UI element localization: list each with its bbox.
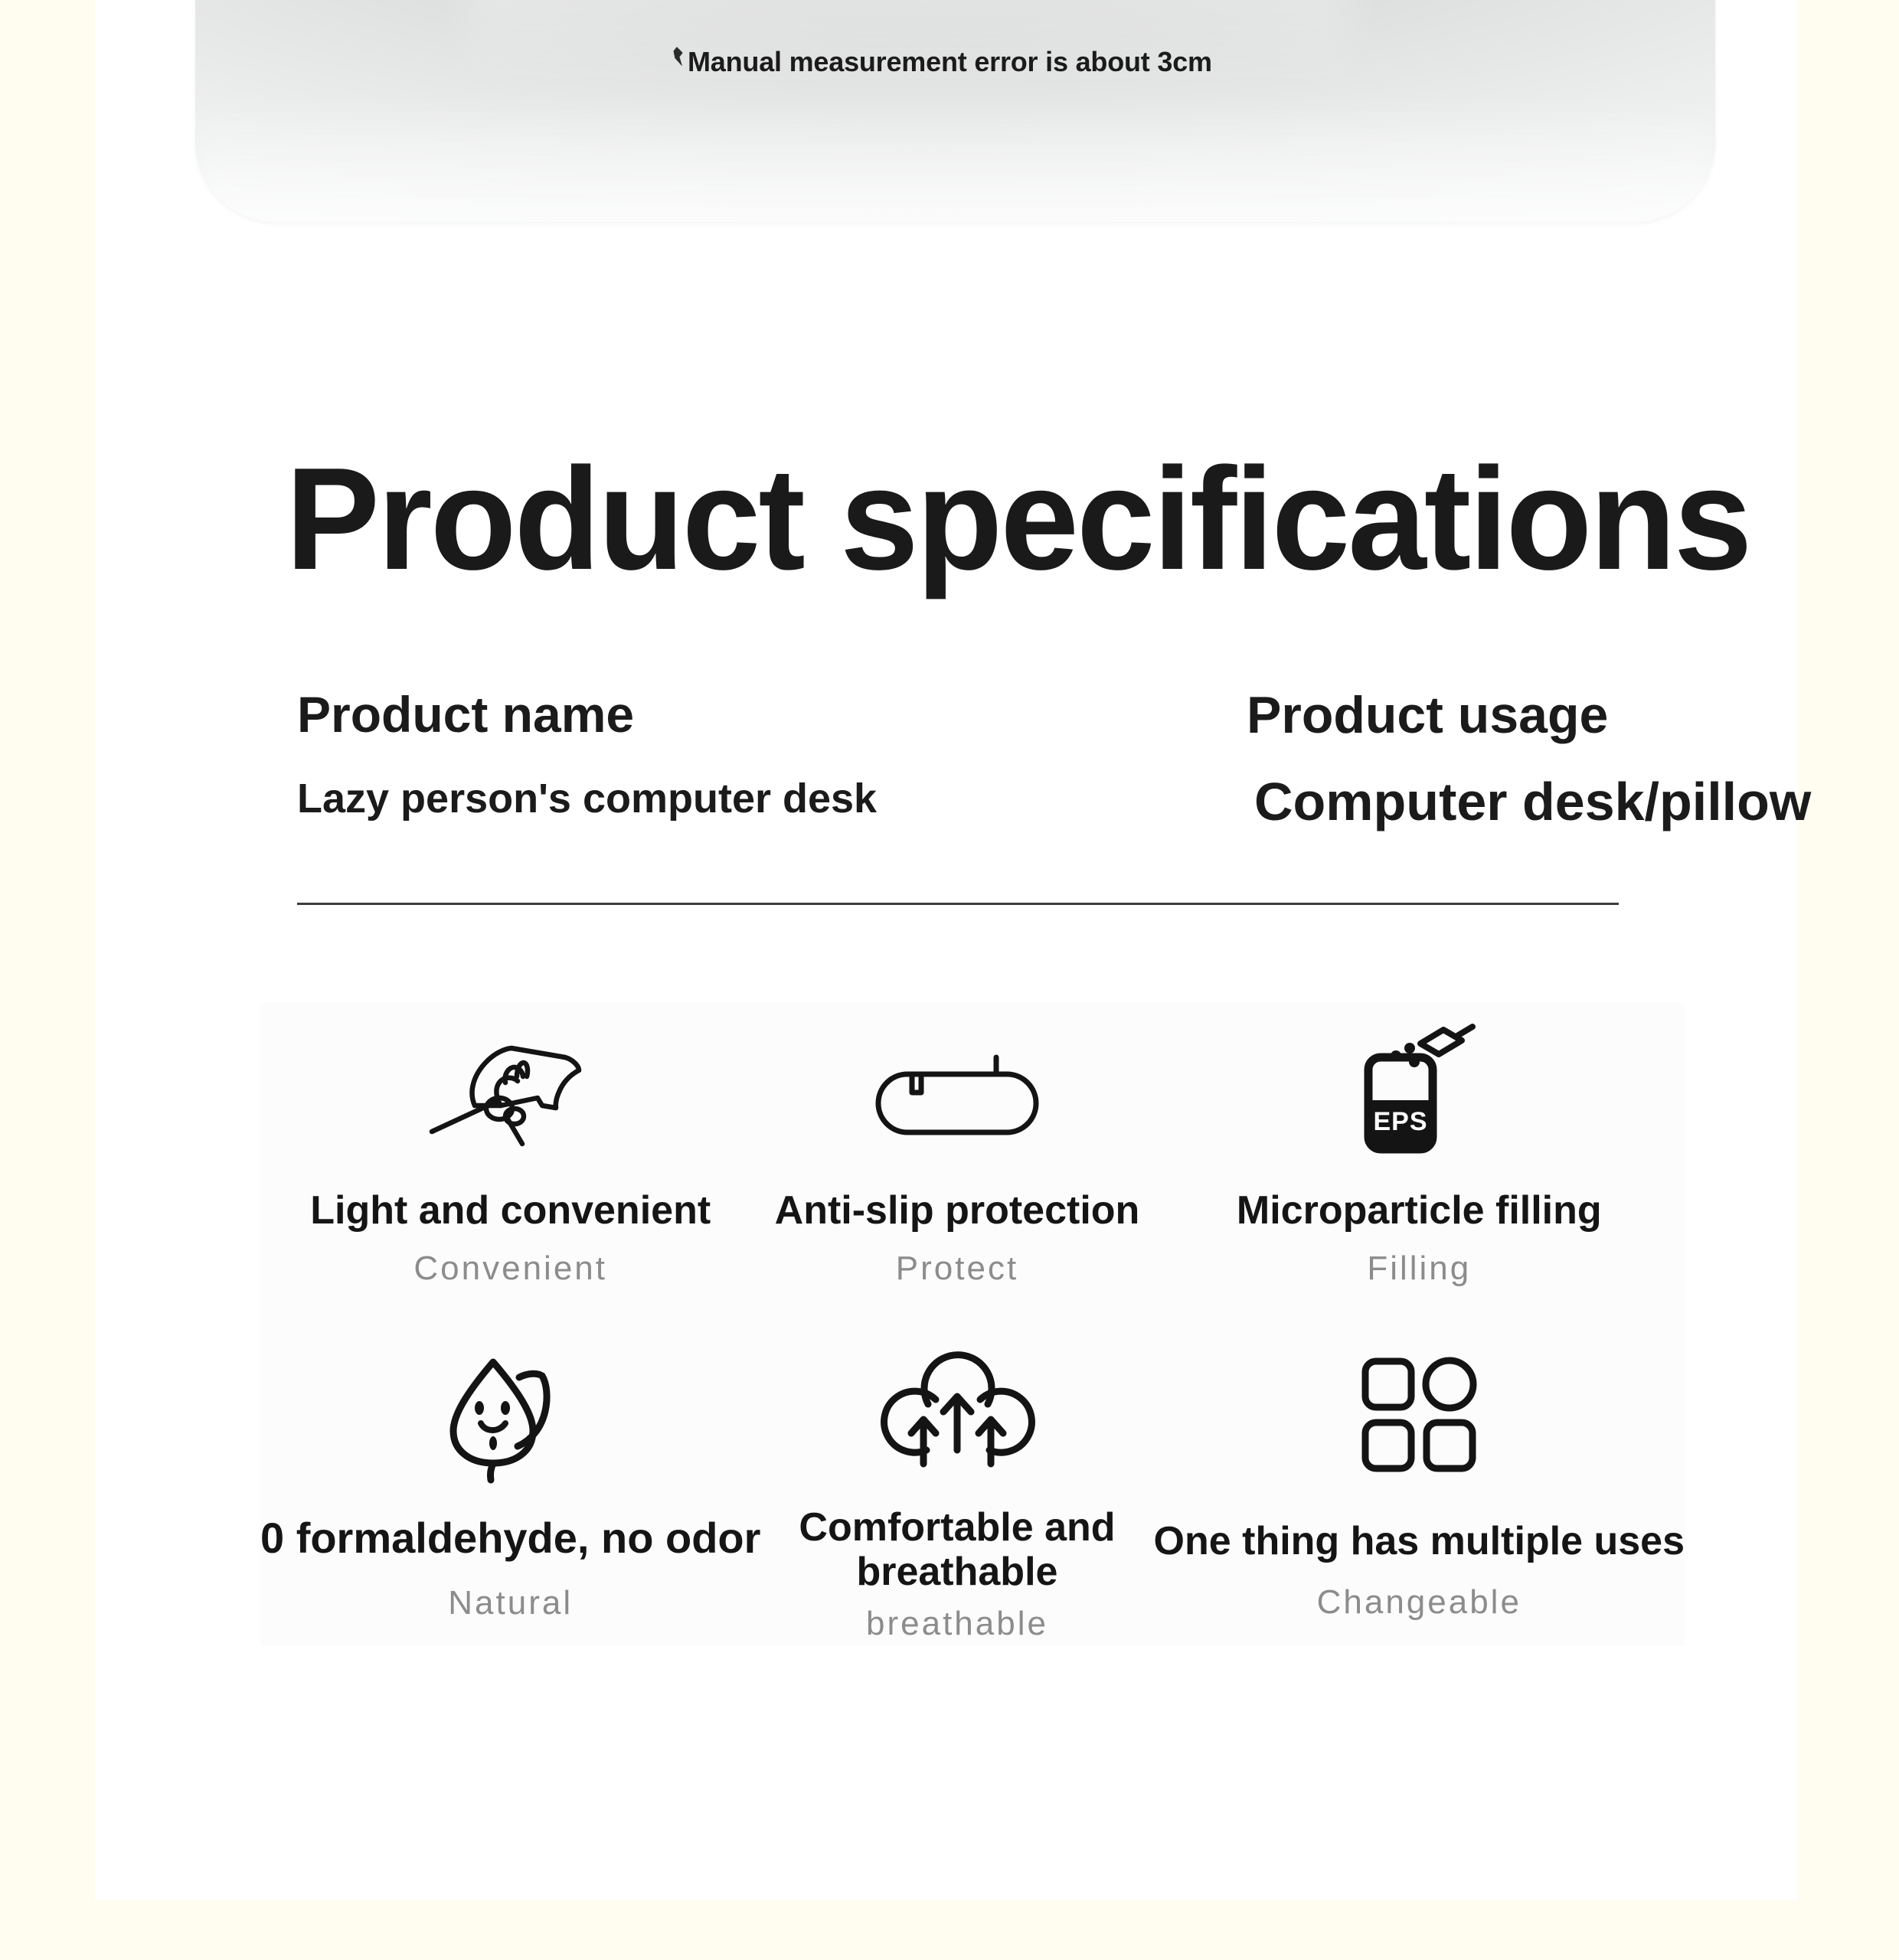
feature-item-breathable: Comfortable and breathable breathable xyxy=(760,1325,1153,1646)
grid-shapes-icon xyxy=(1358,1338,1480,1491)
dark-speck-icon xyxy=(673,47,684,67)
feature-title: Anti-slip protection xyxy=(775,1188,1140,1233)
feature-title: Microparticle filling xyxy=(1237,1188,1602,1233)
air-circulation-icon xyxy=(881,1338,1034,1491)
spec-divider xyxy=(297,903,1619,905)
spec-product-name: Product name Lazy person's computer desk xyxy=(297,689,971,819)
spec-value: Computer desk/pillow xyxy=(1254,775,1899,828)
product-photo xyxy=(195,0,1715,222)
specifications-block: Product name Lazy person's computer desk… xyxy=(0,689,1899,919)
spec-value: Lazy person's computer desk xyxy=(297,778,971,819)
eps-filling-icon: EPS xyxy=(1350,1017,1488,1170)
feature-subtitle: breathable xyxy=(866,1605,1048,1643)
spec-label: Product name xyxy=(297,689,971,740)
smiling-leaf-icon xyxy=(440,1338,581,1491)
feature-item-light-convenient: Light and convenient Convenient xyxy=(260,1003,760,1325)
feature-subtitle: Natural xyxy=(448,1584,573,1622)
feature-subtitle: Protect xyxy=(896,1249,1018,1288)
feature-item-anti-slip: Anti-slip protection Protect xyxy=(760,1003,1153,1325)
feature-item-no-formaldehyde: 0 formaldehyde, no odor Natural xyxy=(260,1325,760,1646)
page-background: Manual measurement error is about 3cm Pr… xyxy=(0,0,1899,1960)
feature-item-microparticle-filling: EPS Microparticle filling Filling xyxy=(1154,1003,1685,1325)
measurement-note: Manual measurement error is about 3cm xyxy=(674,46,1212,78)
feature-title: Light and convenient xyxy=(310,1188,711,1233)
feature-subtitle: Convenient xyxy=(413,1249,607,1288)
feature-item-multiple-uses: One thing has multiple uses Changeable xyxy=(1154,1325,1685,1646)
svg-text:EPS: EPS xyxy=(1374,1107,1428,1136)
spec-product-usage: Product usage Computer desk/pillow xyxy=(1247,689,1899,828)
photo-lower-glow xyxy=(195,94,1715,222)
feature-subtitle: Changeable xyxy=(1317,1583,1521,1622)
page-title: Product specifications xyxy=(286,446,1750,592)
feature-title: 0 formaldehyde, no odor xyxy=(260,1514,760,1563)
feature-title: Comfortable and breathable xyxy=(793,1505,1122,1594)
hand-pinching-icon xyxy=(415,1017,606,1170)
feature-title: One thing has multiple uses xyxy=(1154,1519,1685,1563)
anti-slip-pad-icon xyxy=(869,1017,1045,1170)
feature-subtitle: Filling xyxy=(1367,1249,1471,1288)
spec-label: Product usage xyxy=(1247,689,1899,741)
measurement-note-text: Manual measurement error is about 3cm xyxy=(688,46,1212,78)
feature-grid: Light and convenient Convenient Anti-sli… xyxy=(260,1003,1685,1646)
